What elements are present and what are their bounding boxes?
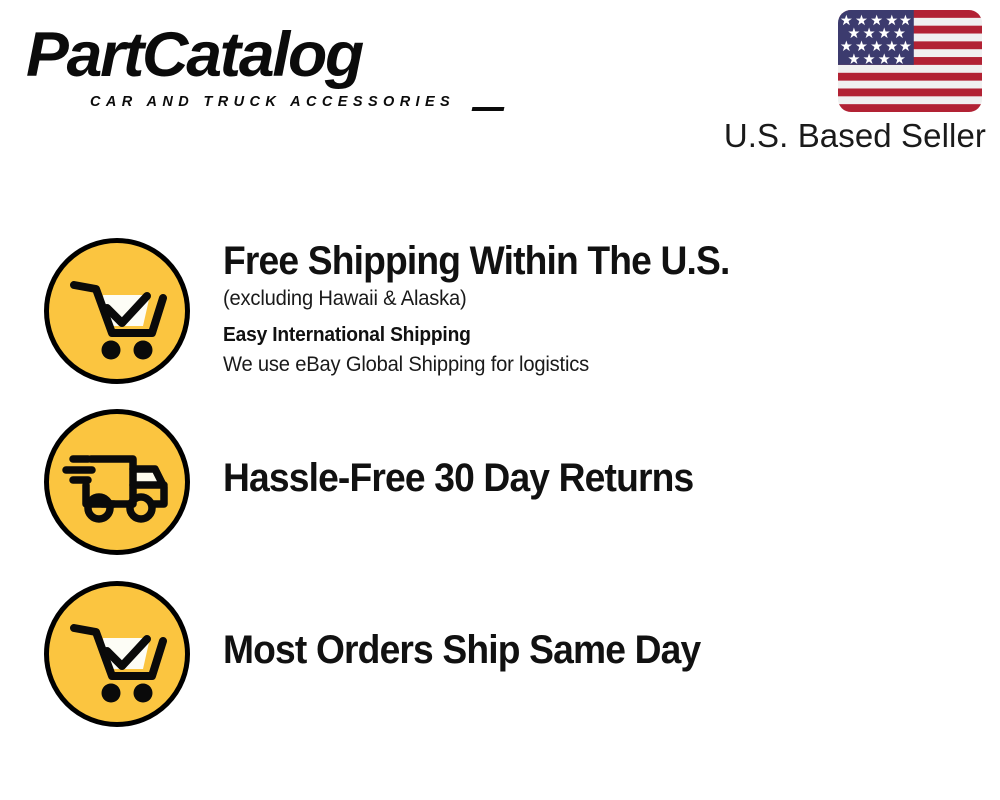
feature-title: Most Orders Ship Same Day xyxy=(223,627,911,673)
brand-tagline: CAR AND TRUCK ACCESSORIES xyxy=(90,94,455,110)
truck-glyph xyxy=(44,409,190,555)
delivery-truck-icon xyxy=(44,409,190,555)
feature-note: (excluding Hawaii & Alaska) xyxy=(223,284,933,314)
cart-check-glyph xyxy=(44,581,190,727)
brand-logo[interactable]: PartCatalog CAR AND TRUCK ACCESSORIES xyxy=(26,22,496,114)
us-flag-icon xyxy=(838,10,982,112)
feature-text-block: Most Orders Ship Same Day xyxy=(223,627,963,673)
feature-sub-title: Easy International Shipping xyxy=(223,320,933,350)
seller-badge: U.S. Based Seller xyxy=(714,8,986,160)
feature-sub-note: We use eBay Global Shipping for logistic… xyxy=(223,350,933,380)
shopping-cart-check-icon xyxy=(44,581,190,727)
cart-check-glyph xyxy=(44,238,190,384)
seller-label: U.S. Based Seller xyxy=(714,116,986,156)
feature-text-block: Hassle-Free 30 Day Returns xyxy=(223,455,963,501)
feature-text-block: Free Shipping Within The U.S. (excluding… xyxy=(223,238,963,380)
feature-row: Most Orders Ship Same Day xyxy=(0,581,1000,741)
feature-title: Hassle-Free 30 Day Returns xyxy=(223,455,911,501)
feature-title: Free Shipping Within The U.S. xyxy=(223,238,911,284)
shopping-cart-check-icon xyxy=(44,238,190,384)
feature-row: Free Shipping Within The U.S. (excluding… xyxy=(0,238,1000,398)
brand-tagline-rule xyxy=(472,107,505,111)
page-header: PartCatalog CAR AND TRUCK ACCESSORIES xyxy=(0,0,1000,175)
feature-row: Hassle-Free 30 Day Returns xyxy=(0,409,1000,569)
brand-wordmark: PartCatalog xyxy=(26,22,362,88)
